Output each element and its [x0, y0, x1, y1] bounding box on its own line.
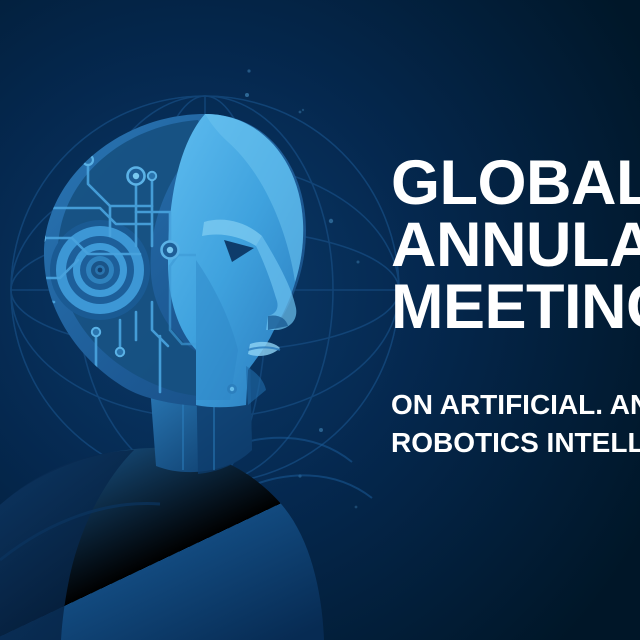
robot-jaw-shadow: [246, 366, 266, 405]
robot-jaw-bolt: [227, 384, 237, 394]
poster-canvas: GLOBAL ANNULAR MEETING ON ARTIFICIAL. AN…: [0, 0, 640, 640]
robot-artwork: [0, 0, 640, 640]
